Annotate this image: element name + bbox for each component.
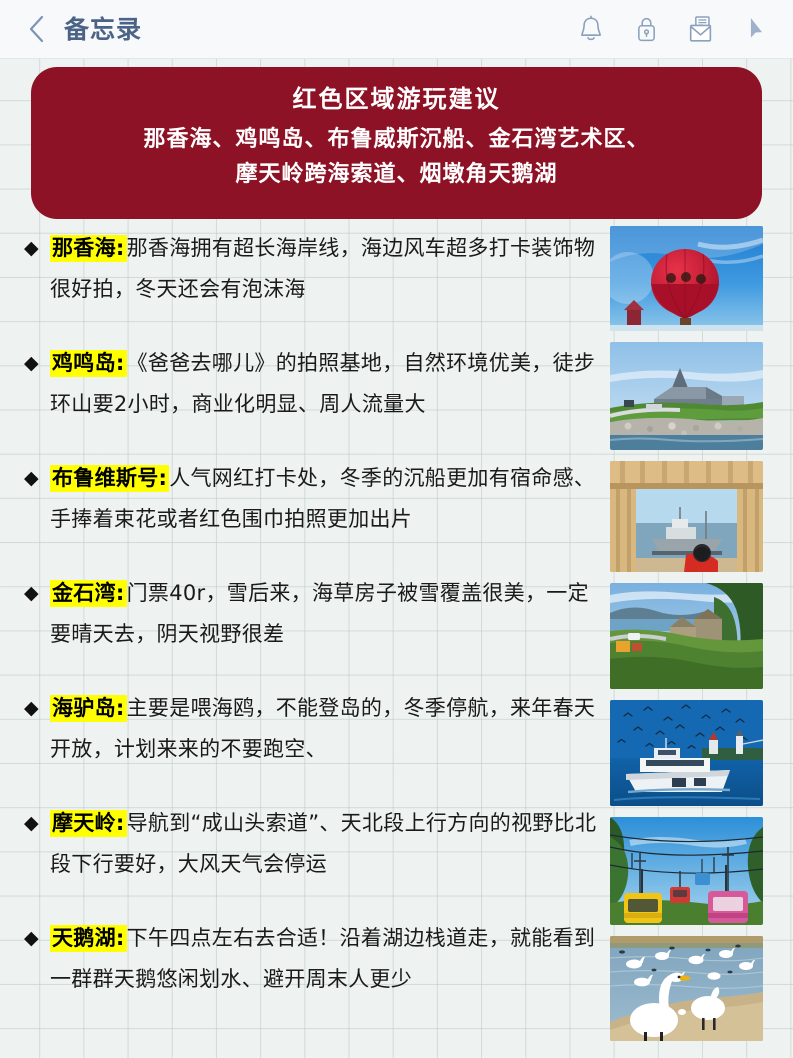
cable-car-photo[interactable] <box>610 817 763 925</box>
topbar-icon-group <box>576 13 775 45</box>
back-button[interactable] <box>26 12 48 46</box>
banner-subtitle-line-2: 摩天岭跨海索道、烟墩角天鹅湖 <box>51 157 742 192</box>
notes-app: 备忘录 <box>0 0 793 1058</box>
entry-name: 鸡鸣岛: <box>50 350 127 377</box>
banner-subtitle-line-1: 那香海、鸡鸣岛、布鲁威斯沉船、金石湾艺术区、 <box>51 122 742 157</box>
entry-name: 金石湾: <box>50 580 127 607</box>
diamond-bullet-icon: ◆ <box>24 340 50 384</box>
entry-body: 主要是喂海鸥，不能登岛的，冬季停航，来年春天开放，计划来来的不要跑空、 <box>50 696 595 761</box>
bell-icon[interactable] <box>576 13 606 45</box>
red-banner: 红色区域游玩建议 那香海、鸡鸣岛、布鲁威斯沉船、金石湾艺术区、 摩天岭跨海索道、… <box>31 67 762 219</box>
diamond-bullet-icon: ◆ <box>24 915 50 959</box>
entry-name: 摩天岭: <box>50 810 127 837</box>
diamond-bullet-icon: ◆ <box>24 800 50 844</box>
photo-column <box>610 225 770 1052</box>
boat-seagulls-photo[interactable] <box>610 700 763 806</box>
swans-lake-photo[interactable] <box>610 936 763 1041</box>
diamond-bullet-icon: ◆ <box>24 570 50 614</box>
entry-text: 海驴岛:主要是喂海鸥，不能登岛的，冬季停航，来年春天开放，计划来来的不要跑空、 <box>50 685 608 770</box>
entry-text: 那香海:那香海拥有超长海岸线，海边风车超多打卡装饰物很好拍，冬天还会有泡沫海 <box>50 225 608 310</box>
entry-body: 《爸爸去哪儿》的拍照基地，自然环境优美，徒步环山要2小时，商业化明显、周人流量大 <box>50 351 595 416</box>
entry-name: 海驴岛: <box>50 695 127 722</box>
entry-name: 布鲁维斯号: <box>50 465 169 492</box>
entry-body: 那香海拥有超长海岸线，海边风车超多打卡装饰物很好拍，冬天还会有泡沫海 <box>50 236 595 301</box>
entry-name: 天鹅湖: <box>50 925 127 952</box>
entry-body: 下午四点左右去合适！沿着湖边栈道走，就能看到一群群天鹅悠闲划水、避开周末人更少 <box>50 926 595 991</box>
shipwreck-frame-photo[interactable] <box>610 461 763 572</box>
entry-text: 摩天岭:导航到“成山头索道”、天北段上行方向的视野比北段下行要好，大风天气会停运 <box>50 800 608 885</box>
diamond-bullet-icon: ◆ <box>24 685 50 729</box>
banner-title: 红色区域游玩建议 <box>51 81 742 117</box>
page-title: 备忘录 <box>64 17 142 42</box>
diamond-bullet-icon: ◆ <box>24 225 50 269</box>
entry-text: 鸡鸣岛:《爸爸去哪儿》的拍照基地，自然环境优美，徒步环山要2小时，商业化明显、周… <box>50 340 608 425</box>
entry-text: 金石湾:门票40r，雪后来，海草房子被雪覆盖很美，一定要晴天去，阴天视野很差 <box>50 570 608 655</box>
diamond-bullet-icon: ◆ <box>24 455 50 499</box>
note-paper: 红色区域游玩建议 那香海、鸡鸣岛、布鲁威斯沉船、金石湾艺术区、 摩天岭跨海索道、… <box>0 59 793 1058</box>
entry-body: 门票40r，雪后来，海草房子被雪覆盖很美，一定要晴天去，阴天视野很差 <box>50 581 589 646</box>
entry-text: 天鹅湖:下午四点左右去合适！沿着湖边栈道走，就能看到一群群天鹅悠闲划水、避开周末… <box>50 915 608 1000</box>
entry-text: 布鲁维斯号:人气网红打卡处，冬季的沉船更加有宿命感、手捧着束花或者红色围巾拍照更… <box>50 455 608 540</box>
lock-icon[interactable] <box>631 13 661 45</box>
cursor-pointer-icon[interactable] <box>741 13 771 45</box>
entry-body: 导航到“成山头索道”、天北段上行方向的视野比北段下行要好，大风天气会停运 <box>50 811 596 876</box>
envelope-document-icon[interactable] <box>686 13 716 45</box>
hot-air-balloon-photo[interactable] <box>610 226 763 331</box>
seaweed-house-photo[interactable] <box>610 583 763 689</box>
top-bar: 备忘录 <box>0 0 793 59</box>
island-building-photo[interactable] <box>610 342 763 450</box>
entry-name: 那香海: <box>50 235 127 262</box>
